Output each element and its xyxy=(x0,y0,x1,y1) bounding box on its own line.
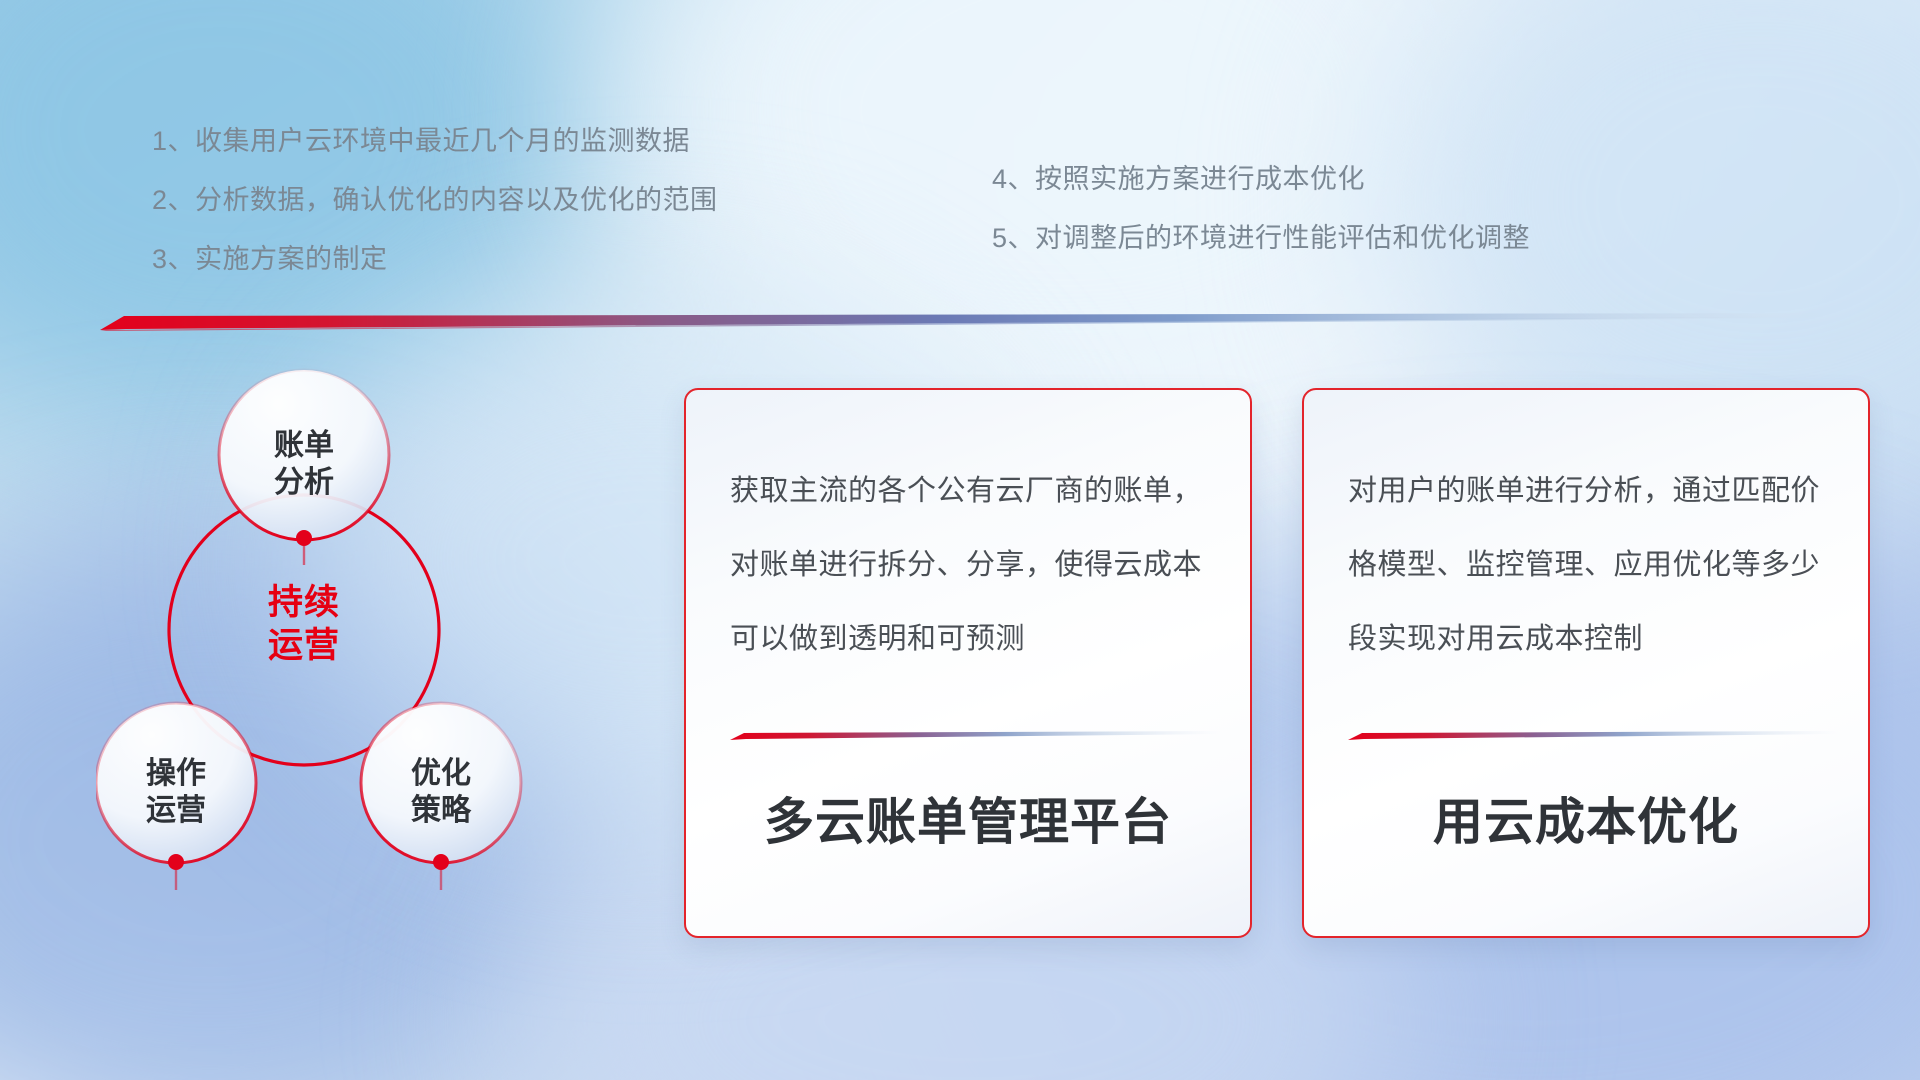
steps-list-left: 1、收集用户云环境中最近几个月的监测数据 2、分析数据，确认优化的内容以及优化的… xyxy=(152,112,718,289)
step-item: 4、按照实施方案进行成本优化 xyxy=(992,150,1530,209)
divider-icon xyxy=(100,312,1842,334)
card-divider-icon xyxy=(1348,731,1840,741)
connector-dot-top xyxy=(296,530,312,546)
venn-center-label: 持续 运营 xyxy=(244,582,364,667)
feature-card-multi-cloud-bill-platform[interactable]: 获取主流的各个公有云厂商的账单，对账单进行拆分、分享，使得云成本可以做到透明和可… xyxy=(684,388,1252,938)
card-divider xyxy=(730,728,1222,738)
card-title: 用云成本优化 xyxy=(1304,782,1868,854)
feature-card-cloud-cost-optimization[interactable]: 对用户的账单进行分析，通过匹配价格模型、监控管理、应用优化等多少段实现对用云成本… xyxy=(1302,388,1870,938)
card-body-text: 对用户的账单进行分析，通过匹配价格模型、监控管理、应用优化等多少段实现对用云成本… xyxy=(1348,454,1834,676)
step-item: 2、分析数据，确认优化的内容以及优化的范围 xyxy=(152,171,718,230)
card-body-text: 获取主流的各个公有云厂商的账单，对账单进行拆分、分享，使得云成本可以做到透明和可… xyxy=(730,454,1216,676)
step-item: 1、收集用户云环境中最近几个月的监测数据 xyxy=(152,112,718,171)
section-divider xyxy=(100,312,1842,334)
venn-node-label-operations: 操作 运营 xyxy=(116,756,236,829)
connector-dot-left xyxy=(168,854,184,870)
venn-node-label-bill-analysis: 账单 分析 xyxy=(244,428,364,501)
card-title: 多云账单管理平台 xyxy=(686,782,1250,854)
venn-node-label-optimization-strategy: 优化 策略 xyxy=(381,756,501,829)
card-divider xyxy=(1348,728,1840,738)
venn-diagram: 账单 分析 持续 运营 操作 运营 优化 策略 xyxy=(96,350,616,950)
card-divider-icon xyxy=(730,731,1222,741)
slide-canvas: 1、收集用户云环境中最近几个月的监测数据 2、分析数据，确认优化的内容以及优化的… xyxy=(0,0,1920,1080)
steps-list-right: 4、按照实施方案进行成本优化 5、对调整后的环境进行性能评估和优化调整 xyxy=(992,150,1530,268)
step-item: 3、实施方案的制定 xyxy=(152,230,718,289)
step-item: 5、对调整后的环境进行性能评估和优化调整 xyxy=(992,209,1530,268)
connector-dot-right xyxy=(433,854,449,870)
